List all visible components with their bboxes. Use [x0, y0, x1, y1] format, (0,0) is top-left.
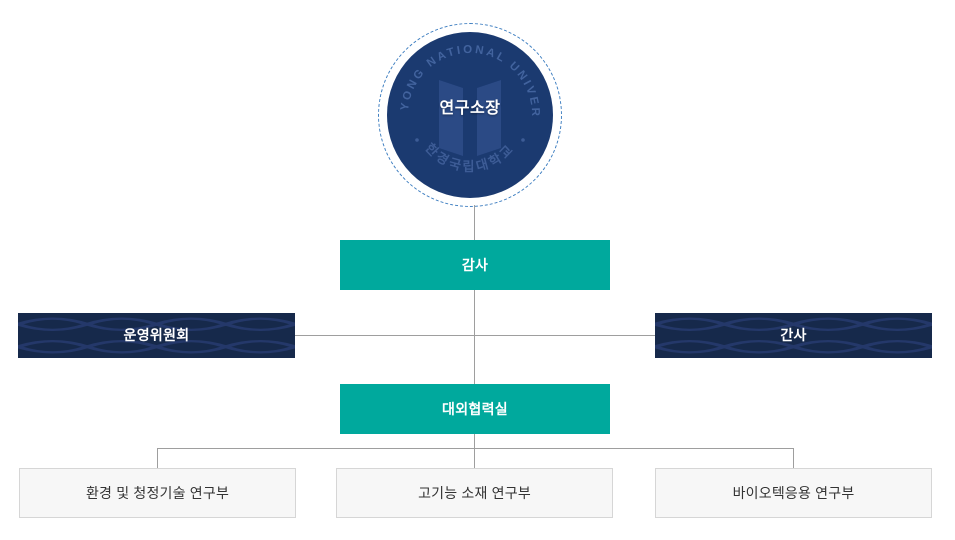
connector-bus-right: [474, 335, 655, 336]
node-external-cooperation-office-label: 대외협력실: [442, 400, 508, 418]
node-division-materials[interactable]: 고기능 소재 연구부: [336, 468, 613, 518]
root-node-emblem[interactable]: HANKYONG NATIONAL UNIVERSITY 한경국립대학교 연구소…: [378, 23, 572, 207]
node-steering-committee-label: 운영위원회: [124, 326, 190, 344]
emblem-arc-bottom-text: 한경국립대학교: [422, 140, 517, 174]
connector-root-to-audit: [474, 205, 475, 240]
node-steering-committee[interactable]: 운영위원회: [18, 313, 295, 358]
node-secretary[interactable]: 간사: [655, 313, 932, 358]
node-audit[interactable]: 감사: [340, 240, 610, 290]
connector-division-drop-2: [474, 448, 475, 468]
connector-divisions-bus: [157, 448, 794, 449]
connector-division-drop-3: [793, 448, 794, 468]
node-division-materials-label: 고기능 소재 연구부: [418, 484, 531, 502]
root-node-label: 연구소장: [387, 99, 553, 119]
node-division-environment[interactable]: 환경 및 청정기술 연구부: [19, 468, 296, 518]
org-chart: HANKYONG NATIONAL UNIVERSITY 한경국립대학교 연구소…: [0, 0, 955, 540]
node-audit-label: 감사: [462, 256, 488, 274]
connector-division-drop-1: [157, 448, 158, 468]
svg-text:한경국립대학교: 한경국립대학교: [422, 140, 517, 174]
node-division-biotech-label: 바이오텍응용 연구부: [733, 484, 855, 502]
node-secretary-label: 간사: [780, 326, 806, 344]
connector-audit-to-office: [474, 290, 475, 384]
node-division-biotech[interactable]: 바이오텍응용 연구부: [655, 468, 932, 518]
connector-office-drop: [474, 434, 475, 448]
node-external-cooperation-office[interactable]: 대외협력실: [340, 384, 610, 434]
connector-bus-left: [295, 335, 475, 336]
node-division-environment-label: 환경 및 청정기술 연구부: [86, 484, 229, 502]
